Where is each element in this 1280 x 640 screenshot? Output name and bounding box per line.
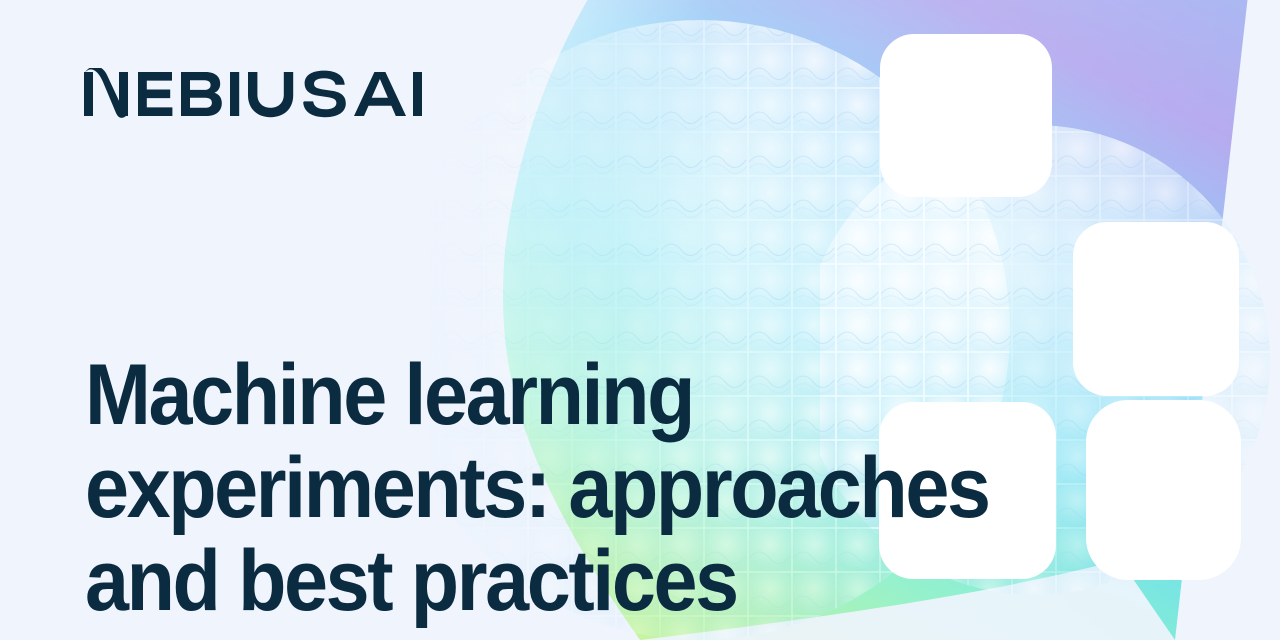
nebius-ai-logo[interactable]: NEBIUS AI <box>82 68 422 120</box>
white-tile-1 <box>880 34 1052 197</box>
logo-wordmark <box>84 68 422 118</box>
white-tile-2 <box>1073 222 1239 396</box>
page-title: Machine learning experiments: approaches… <box>85 349 1060 628</box>
banner-canvas: NEBIUS AI Machine learning experiments: … <box>0 0 1280 640</box>
white-tile-4 <box>1086 400 1241 580</box>
